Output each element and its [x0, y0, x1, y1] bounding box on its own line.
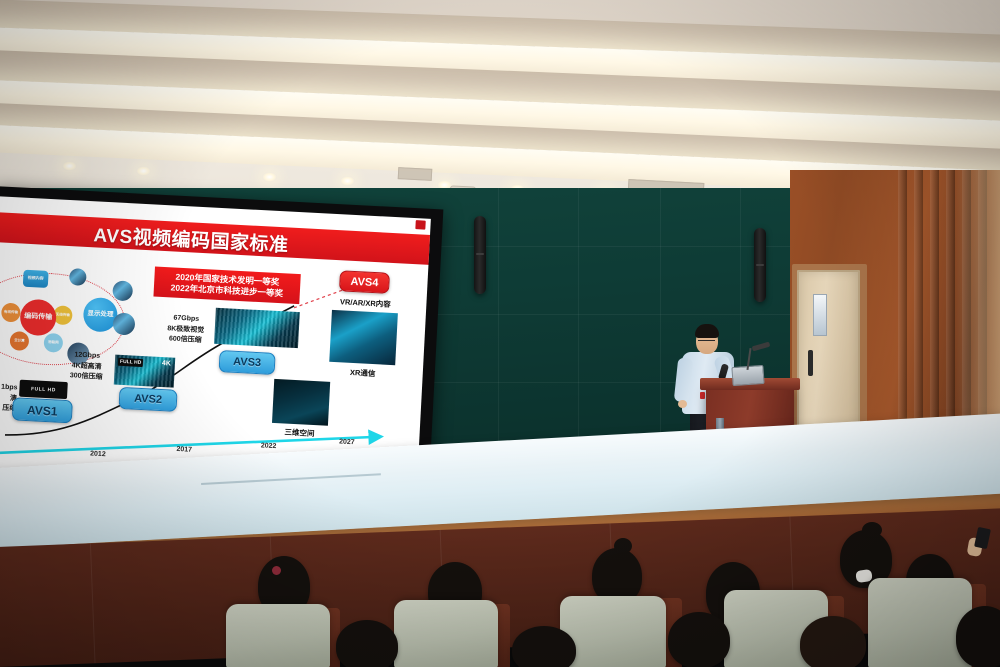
audience-hair-bun: [614, 538, 632, 554]
fourk-tag: 4K: [162, 360, 171, 367]
ceiling-vent: [398, 167, 433, 181]
audience-chair[interactable]: [394, 600, 498, 667]
fullhd-label: FULL HD: [31, 386, 56, 393]
audience-chair[interactable]: [226, 604, 330, 667]
side-exit-door[interactable]: [797, 270, 860, 445]
audience-hair-bun: [862, 522, 882, 538]
audience-chair[interactable]: [560, 596, 666, 667]
milestone-avs4: AVS4: [339, 270, 390, 294]
glasses-icon: [698, 340, 715, 344]
audience-hair-tie: [272, 566, 281, 575]
avs1-ann-line-0: 1bps: [0, 381, 18, 394]
annotation-avs2: 12Gbps 4K超高清 300倍压缩: [62, 350, 112, 384]
speaker-hand-left: [678, 400, 687, 408]
pointcloud-image: [272, 379, 330, 426]
audience-chair[interactable]: [868, 578, 972, 667]
audience-head-foreground: [512, 626, 576, 667]
timeline-year-2: 2017: [176, 446, 192, 454]
audience-head-foreground: [336, 620, 398, 667]
timeline-year-1: 2012: [90, 450, 106, 458]
ceiling-downlight: [136, 166, 151, 176]
timeline-year-4: 2027: [339, 438, 355, 446]
speaker-badge: [700, 392, 705, 399]
annotation-avs3: 67Gbps 8K极致视觉 600倍压缩: [160, 313, 212, 347]
hd-tag: FULL HD: [118, 358, 144, 367]
milestone-avs2: AVS2: [119, 387, 178, 412]
audience-head-foreground: [800, 616, 866, 667]
fullhd-badge: FULL HD: [19, 380, 68, 399]
door-handle-icon[interactable]: [808, 350, 813, 376]
slide-logo-icon: [415, 220, 425, 230]
ceiling-downlight: [340, 176, 355, 186]
audience-head-foreground: [668, 612, 730, 667]
audience-head-foreground: [956, 606, 1000, 667]
timeline-year-3: 2022: [261, 442, 277, 450]
wall-speaker-right: [754, 228, 766, 302]
wall-speaker-left: [474, 216, 486, 294]
milestone-avs1: AVS1: [12, 397, 73, 423]
hd-4k-comparison-image: FULL HD 4K: [114, 355, 175, 388]
door-window: [813, 294, 827, 336]
xr-image: [329, 310, 398, 365]
milestone-avs3: AVS3: [219, 350, 276, 375]
speaker-hair: [695, 324, 719, 338]
8k-scene-image: [214, 308, 300, 348]
ceiling-downlight: [62, 161, 77, 171]
presentation-photo: AVS视频编码国家标准 4 视频内容 有线传输 无线传输 云计算 物联网 编码传…: [0, 0, 1000, 667]
ceiling-downlight: [262, 172, 277, 182]
